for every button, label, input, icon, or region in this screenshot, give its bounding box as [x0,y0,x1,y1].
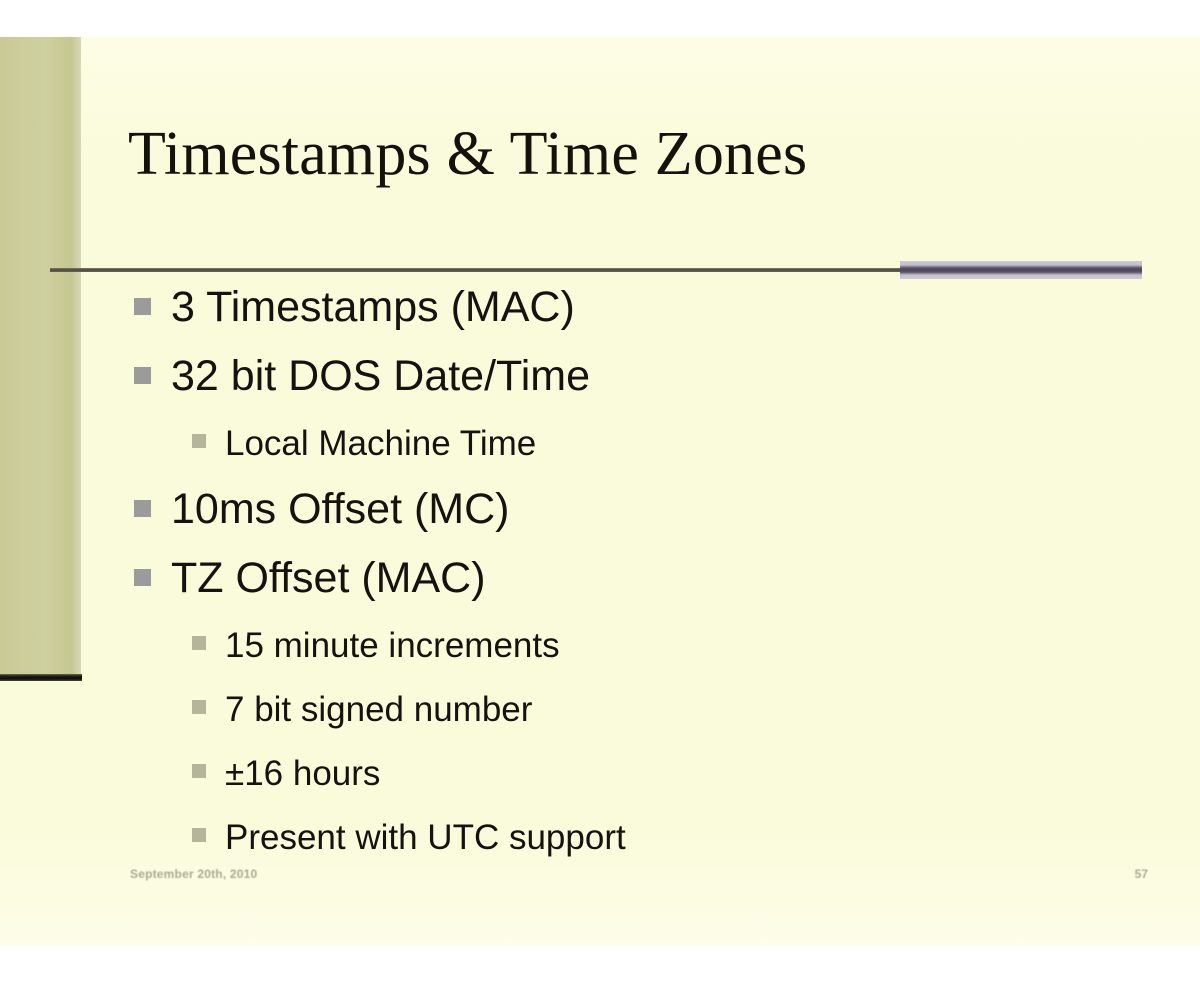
title-divider [50,267,1142,273]
bullet-list: 3 Timestamps (MAC)32 bit DOS Date/TimeLo… [0,277,1200,873]
slide-footer: September 20th, 2010 57 [0,867,1200,907]
slide-frame: Timestamps & Time Zones 3 Timestamps (MA… [0,0,1200,981]
bullet-item-label: 32 bit DOS Date/Time [171,346,590,406]
slide-canvas: Timestamps & Time Zones 3 Timestamps (MA… [0,37,1200,945]
bullet-square-icon [134,298,151,315]
footer-date: September 20th, 2010 [130,867,257,881]
title-block: Timestamps & Time Zones [128,123,1138,185]
bullet-item: 15 minute increments [0,617,1200,681]
footer-page-number: 57 [1135,867,1148,881]
bullet-item: 3 Timestamps (MAC) [0,277,1200,345]
bullet-square-icon [192,434,206,448]
bullet-item-label: ±16 hours [225,745,380,802]
bullet-square-icon [192,828,206,842]
bullet-item: Present with UTC support [0,809,1200,873]
bullet-square-icon [192,700,206,714]
bullet-item: Local Machine Time [0,415,1200,479]
bullet-item: ±16 hours [0,745,1200,809]
bullet-square-icon [192,764,206,778]
bullet-item-label: 7 bit signed number [225,681,532,738]
bullet-item-label: TZ Offset (MAC) [171,548,486,608]
bullet-square-icon [134,500,151,517]
bullet-item-label: Present with UTC support [225,809,626,866]
bullet-item: 7 bit signed number [0,681,1200,745]
bullet-square-icon [134,367,151,384]
bullet-square-icon [134,569,151,586]
bullet-item-label: 10ms Offset (MC) [171,479,509,539]
bullet-item-label: 3 Timestamps (MAC) [171,277,575,337]
bullet-square-icon [192,636,206,650]
bullet-item-label: 15 minute increments [225,617,560,674]
bullet-item-label: Local Machine Time [225,415,536,472]
bullet-item: 10ms Offset (MC) [0,479,1200,547]
slide-title: Timestamps & Time Zones [128,123,1138,185]
bullet-item: 32 bit DOS Date/Time [0,346,1200,414]
bullet-item: TZ Offset (MAC) [0,548,1200,616]
